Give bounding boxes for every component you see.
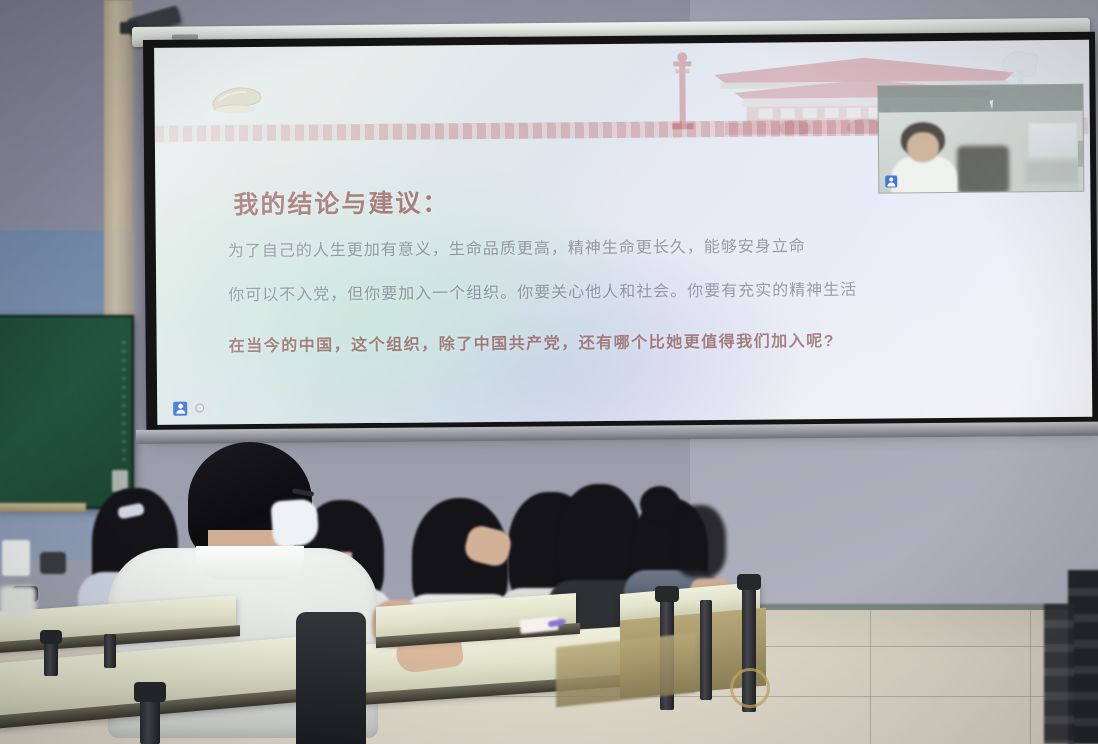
chalk-tray bbox=[0, 503, 86, 512]
video-panel-scroll-thumb[interactable] bbox=[1078, 141, 1083, 167]
meeting-participant-badge[interactable] bbox=[171, 399, 211, 416]
desk-leg-cap-1 bbox=[134, 682, 166, 702]
status-dot-icon bbox=[195, 403, 204, 412]
video-feed-person-face bbox=[907, 132, 939, 162]
video-feed-window bbox=[1029, 123, 1077, 157]
desk-leg-4 bbox=[104, 634, 116, 668]
desk-leg-cap-3 bbox=[40, 630, 62, 644]
video-feed-shelf bbox=[1025, 161, 1079, 183]
stacked-chairs-right-2 bbox=[1044, 604, 1074, 744]
slide-watermark bbox=[902, 370, 1062, 371]
desk-item-bag bbox=[0, 586, 36, 616]
projection-screen-surface: 我的结论与建议： 为了自己的人生更加有意义，生命品质更高，精神生命更长久，能够安… bbox=[154, 40, 1092, 425]
video-feed-monitor bbox=[957, 145, 1009, 193]
party-emblem-icon bbox=[204, 79, 266, 116]
chalkboard-marks bbox=[122, 341, 126, 461]
desk-leg-7 bbox=[700, 600, 712, 700]
chair-back-foreground bbox=[296, 612, 366, 744]
desk-item-cup-left bbox=[2, 540, 30, 576]
foreground-student-collar bbox=[196, 546, 304, 580]
desk-leg-cap-5 bbox=[655, 586, 679, 602]
slide-body-line-1: 为了自己的人生更加有意义，生命品质更高，精神生命更长久，能够安身立命 bbox=[228, 232, 806, 261]
screenshot-root: 我的结论与建议： 为了自己的人生更加有意义，生命品质更高，精神生命更长久，能够安… bbox=[0, 0, 1098, 744]
user-avatar-icon bbox=[173, 401, 187, 415]
slide-body-line-3: 在当今的中国，这个组织，除了中国共产党，还有哪个比她更值得我们加入呢? bbox=[229, 327, 835, 356]
user-avatar-icon bbox=[885, 175, 897, 187]
video-conference-panel[interactable] bbox=[877, 84, 1084, 194]
student-back-6-ponytail bbox=[640, 486, 680, 522]
slide-body-line-2: 你可以不入党，但你要加入一个组织。你要关心他人和社会。你要有充实的精神生活 bbox=[228, 276, 857, 305]
projection-screen-frame: 我的结论与建议： 为了自己的人生更加有意义，生命品质更高，精神生命更长久，能够安… bbox=[143, 32, 1098, 432]
video-panel-scrollbar[interactable] bbox=[1078, 111, 1084, 191]
video-participant-label bbox=[885, 174, 900, 188]
video-panel-header[interactable] bbox=[878, 85, 1082, 113]
foreground-student-mask bbox=[270, 498, 319, 547]
desk-item-dark bbox=[40, 552, 66, 574]
slide-title: 我的结论与建议： bbox=[233, 183, 449, 221]
video-feed bbox=[879, 111, 1084, 193]
desk-leg-cap-6 bbox=[737, 574, 761, 590]
student-back-7 bbox=[674, 505, 726, 577]
desk-right-ring bbox=[730, 668, 770, 708]
